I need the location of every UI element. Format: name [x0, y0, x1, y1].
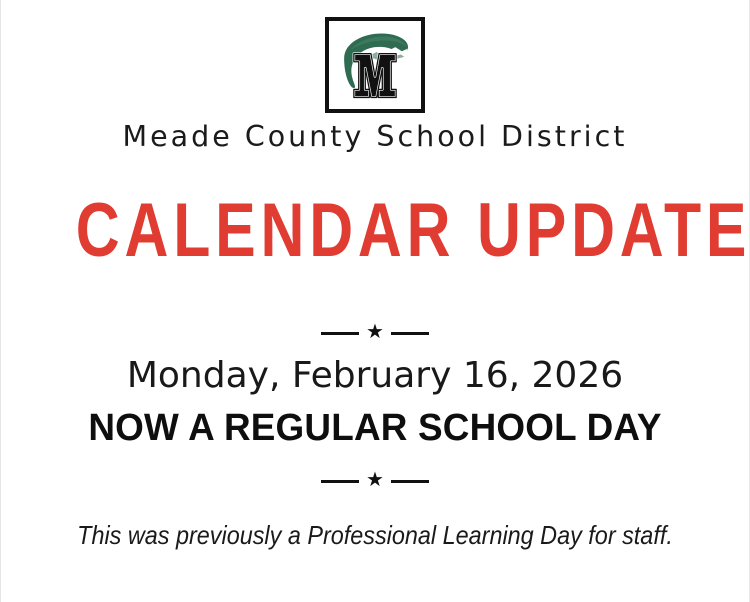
greenwave-m-icon [334, 26, 416, 104]
star-icon: ★ [366, 470, 384, 490]
divider-rule-left [321, 480, 359, 483]
page-title: CALENDAR UPDATE [76, 193, 674, 269]
divider-rule-left [321, 332, 359, 335]
district-logo [325, 17, 425, 113]
divider-rule-right [391, 332, 429, 335]
footnote-text: This was previously a Professional Learn… [38, 519, 711, 551]
announcement-status: NOW A REGULAR SCHOOL DAY [12, 406, 738, 450]
logo-container [1, 17, 749, 113]
divider-rule-right [391, 480, 429, 483]
divider-bottom: ★ [1, 471, 749, 491]
divider-top: ★ [1, 323, 749, 343]
announcement-date: Monday, February 16, 2026 [1, 355, 749, 397]
district-name: Meade County School District [1, 120, 749, 153]
calendar-update-flyer: Meade County School District CALENDAR UP… [0, 0, 750, 602]
star-icon: ★ [366, 322, 384, 342]
